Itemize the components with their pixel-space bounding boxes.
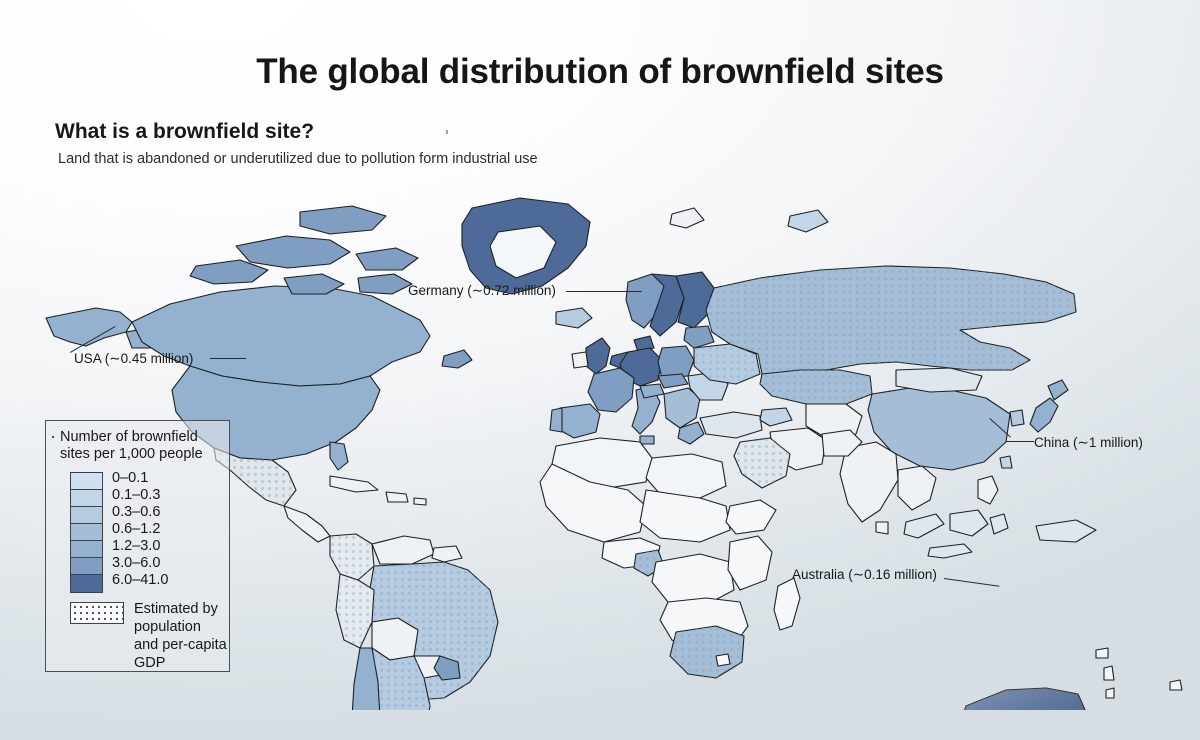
country-caucasus [760,408,792,426]
leader-line-china [1006,441,1034,442]
country-japan-north [1048,380,1068,400]
country-lesotho [716,654,730,666]
legend-label-2: 0.3–0.6 [112,504,168,521]
country-central-america [284,506,330,542]
country-kazakhstan-dots [760,370,872,404]
country-canada [132,286,430,386]
legend-stray-dot [52,436,54,438]
country-hispaniola [386,492,408,502]
country-venezuela [372,536,434,564]
legend-swatch-1 [71,490,102,507]
annotation-china: China (∼1 million) [1034,435,1143,451]
country-new-guinea [1036,520,1096,542]
legend-labels: 0–0.1 0.1–0.3 0.3–0.6 0.6–1.2 1.2–3.0 3.… [112,470,168,589]
legend-label-4: 1.2–3.0 [112,538,168,555]
legend-swatch-4 [71,541,102,558]
country-south-africa-dots [670,626,744,678]
country-sulawesi [990,514,1008,534]
country-borneo [950,510,988,536]
country-ireland [572,352,588,368]
annotation-germany: Germany (∼0.72 million) [408,283,556,299]
country-korea [1010,410,1024,426]
country-taiwan [1000,456,1012,468]
country-czech-slovakia [658,374,688,388]
country-indonesia-java [928,544,972,558]
country-novaya-zemlya [788,210,828,232]
map-legend: Number of brownfield sites per 1,000 peo… [45,420,230,672]
country-united-kingdom [586,338,610,374]
legend-label-3: 0.6–1.2 [112,521,168,538]
stray-mark [446,130,448,134]
section-subheading: What is a brownfield site? [55,120,314,144]
country-spain [556,404,600,438]
country-newfoundland [442,350,472,368]
country-indonesia-sumatra [904,514,944,538]
country-portugal [550,408,562,432]
country-east-africa [728,536,772,590]
country-canada-arctic-1 [236,236,350,268]
legend-label-5: 3.0–6.0 [112,555,168,572]
country-solomon [1096,648,1108,658]
annotation-australia: Australia (∼0.16 million) [792,567,937,583]
legend-swatch-5 [71,558,102,575]
country-sicily [640,436,654,444]
country-horn-of-africa [726,500,776,534]
country-philippines [978,476,998,504]
country-sahel-east [640,490,730,542]
legend-label-1: 0.1–0.3 [112,487,168,504]
legend-label-0: 0–0.1 [112,470,168,487]
country-sea-mainland [898,466,936,510]
infographic-page: The global distribution of brownfield si… [0,0,1200,740]
country-fiji [1170,680,1182,690]
legend-label-6: 6.0–41.0 [112,572,168,589]
section-description: Land that is abandoned or underutilized … [58,151,538,167]
country-canada-arctic-2 [190,260,268,284]
country-peru-dots [336,574,374,648]
leader-line-usa [210,358,246,359]
country-canada-arctic-6 [358,274,412,294]
page-title: The global distribution of brownfield si… [0,52,1200,92]
legend-swatch-0 [71,473,102,490]
country-alps-austria [640,384,664,398]
country-canada-arctic-5 [356,248,418,270]
country-turkey [700,412,762,438]
legend-color-ramp [70,472,103,593]
country-us-florida [330,442,348,470]
country-puerto-rico [414,498,426,505]
country-pacific-islets [1106,688,1114,698]
country-france [588,368,634,412]
legend-estimated-label: Estimated by population and per-capita G… [134,600,229,672]
country-svalbard [670,208,704,228]
country-iceland [556,308,592,328]
country-canada-arctic-3 [300,206,386,234]
annotation-usa: USA (∼0.45 million) [74,351,193,367]
country-madagascar [774,578,800,630]
country-guyanas [432,546,462,562]
legend-title: Number of brownfield sites per 1,000 peo… [60,429,225,463]
leader-line-germany [566,291,642,292]
legend-swatch-2 [71,507,102,524]
country-cuba [330,476,378,492]
country-japan [1030,398,1058,432]
country-russia-dots [706,266,1076,376]
country-mongolia [896,368,982,392]
country-australia-shade [960,688,1086,710]
country-baltics [684,326,714,348]
country-vanuatu [1104,666,1114,680]
country-poland [658,346,694,378]
legend-swatch-6 [71,575,102,592]
legend-estimated-swatch [70,602,124,624]
country-sri-lanka [876,522,888,534]
legend-swatch-3 [71,524,102,541]
